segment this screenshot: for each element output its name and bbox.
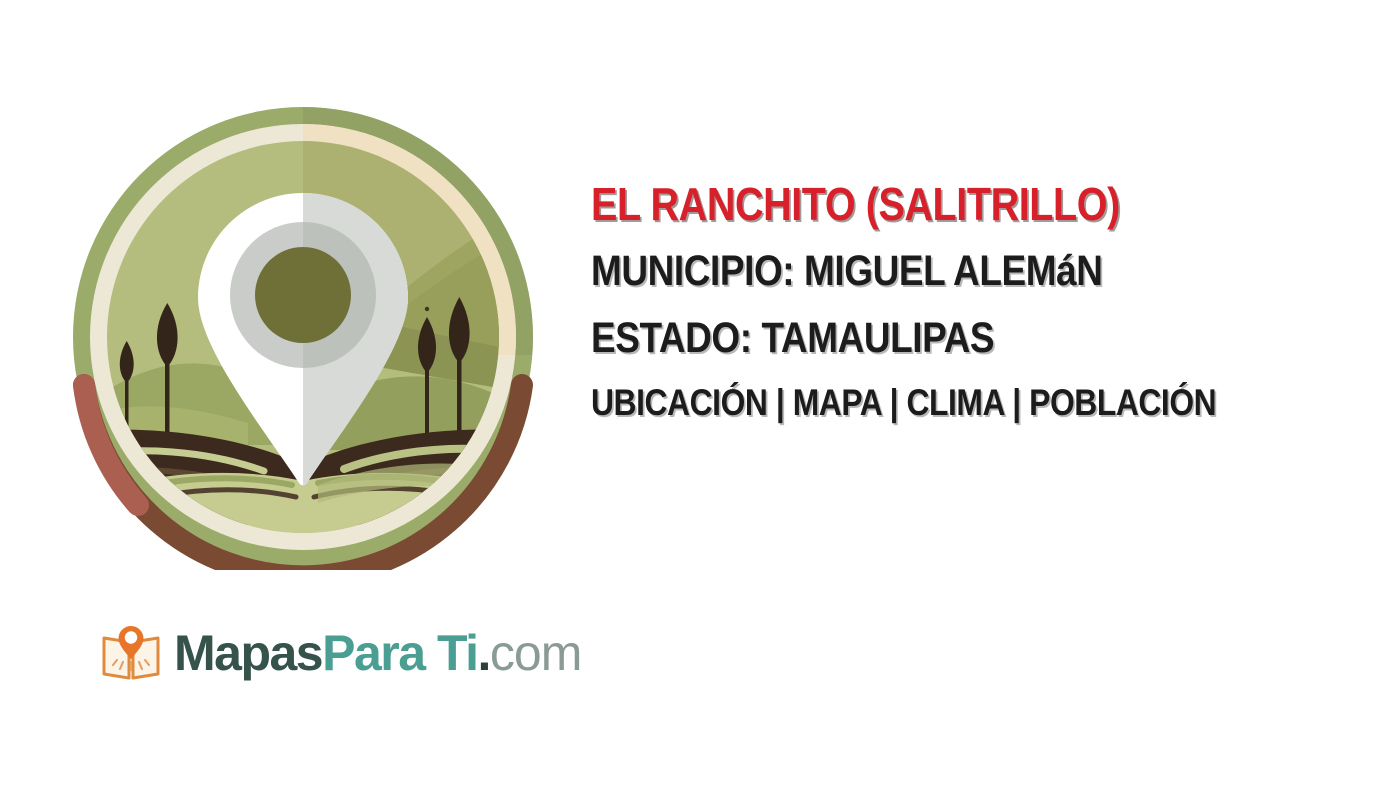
brand-logo[interactable]: MapasPara Ti.com	[100, 620, 581, 686]
speck-detail	[425, 307, 429, 311]
page-title: EL RANCHITO (SALITRILLO)	[591, 181, 1279, 227]
estado-label: ESTADO: TAMAULIPAS	[591, 317, 1279, 360]
section-links[interactable]: UBICACIÓN | MAPA | CLIMA | POBLACIÓN	[591, 384, 1279, 421]
landscape-badge	[68, 105, 538, 570]
brand-part-mapas: Mapas	[174, 625, 322, 681]
brand-dot: .	[477, 625, 489, 681]
landscape-location-pin-badge-icon	[68, 105, 538, 570]
page-root: EL RANCHITO (SALITRILLO) MUNICIPIO: MIGU…	[0, 0, 1400, 786]
brand-wordmark: MapasPara Ti.com	[174, 628, 581, 678]
brand-part-parati: Para Ti	[322, 625, 477, 681]
brand-part-com: com	[490, 625, 581, 681]
open-book-pin-icon	[100, 624, 162, 682]
municipio-label: MUNICIPIO: MIGUEL ALEMáN	[591, 250, 1279, 293]
location-info-block: EL RANCHITO (SALITRILLO) MUNICIPIO: MIGU…	[591, 181, 1391, 421]
